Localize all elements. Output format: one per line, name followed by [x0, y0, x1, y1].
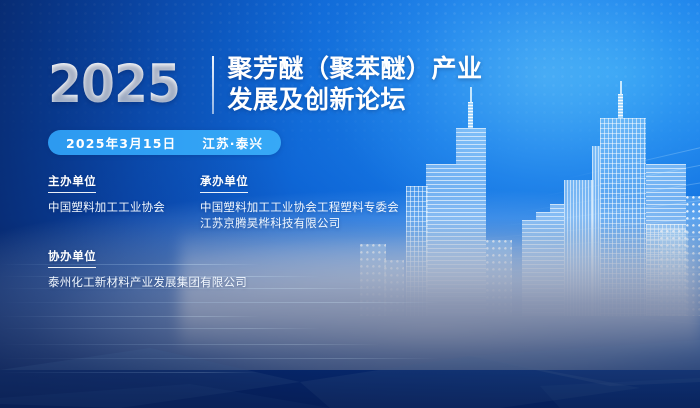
organizer-heading: 协办单位 [48, 248, 96, 268]
organizer-block-host: 主办单位 中国塑料加工工业协会 [48, 172, 200, 231]
date-location-pill: 2025年3月15日 江苏·泰兴 [48, 130, 281, 155]
organizer-entry: 中国塑料加工工业协会 [48, 199, 200, 215]
year-label: 2025 [48, 52, 180, 116]
organizer-entry: 中国塑料加工工业协会工程塑料专委会 [200, 199, 468, 215]
title-line-1: 聚芳醚（聚苯醚）产业 [228, 53, 483, 84]
organizer-block-co-organizer: 协办单位 泰州化工新材料产业发展集团有限公司 [48, 247, 247, 290]
organizer-entry: 江苏京腾昊桦科技有限公司 [200, 215, 468, 231]
organizer-entries: 泰州化工新材料产业发展集团有限公司 [48, 274, 247, 290]
organizer-row-bottom: 协办单位 泰州化工新材料产业发展集团有限公司 [48, 247, 468, 290]
organizer-block-organizer: 承办单位 中国塑料加工工业协会工程塑料专委会 江苏京腾昊桦科技有限公司 [200, 172, 468, 231]
organizer-entries: 中国塑料加工工业协会工程塑料专委会 江苏京腾昊桦科技有限公司 [200, 199, 468, 231]
organizers-section: 主办单位 中国塑料加工工业协会 承办单位 中国塑料加工工业协会工程塑料专委会 江… [48, 172, 468, 290]
organizer-row-top: 主办单位 中国塑料加工工业协会 承办单位 中国塑料加工工业协会工程塑料专委会 江… [48, 172, 468, 231]
organizer-heading: 承办单位 [200, 173, 248, 193]
title-block: 聚芳醚（聚苯醚）产业 发展及创新论坛 [228, 52, 483, 115]
organizer-entries: 中国塑料加工工业协会 [48, 199, 200, 215]
conference-poster: 2025 聚芳醚（聚苯醚）产业 发展及创新论坛 2025年3月15日 江苏·泰兴… [0, 0, 700, 408]
headline-divider [212, 56, 214, 114]
poster-content: 2025 聚芳醚（聚苯醚）产业 发展及创新论坛 2025年3月15日 江苏·泰兴… [48, 52, 468, 290]
event-date: 2025年3月15日 [66, 133, 176, 152]
organizer-entry: 泰州化工新材料产业发展集团有限公司 [48, 274, 247, 290]
title-line-2: 发展及创新论坛 [228, 84, 483, 115]
organizer-heading: 主办单位 [48, 173, 96, 193]
headline: 2025 聚芳醚（聚苯醚）产业 发展及创新论坛 [48, 52, 468, 116]
event-location: 江苏·泰兴 [202, 133, 263, 152]
